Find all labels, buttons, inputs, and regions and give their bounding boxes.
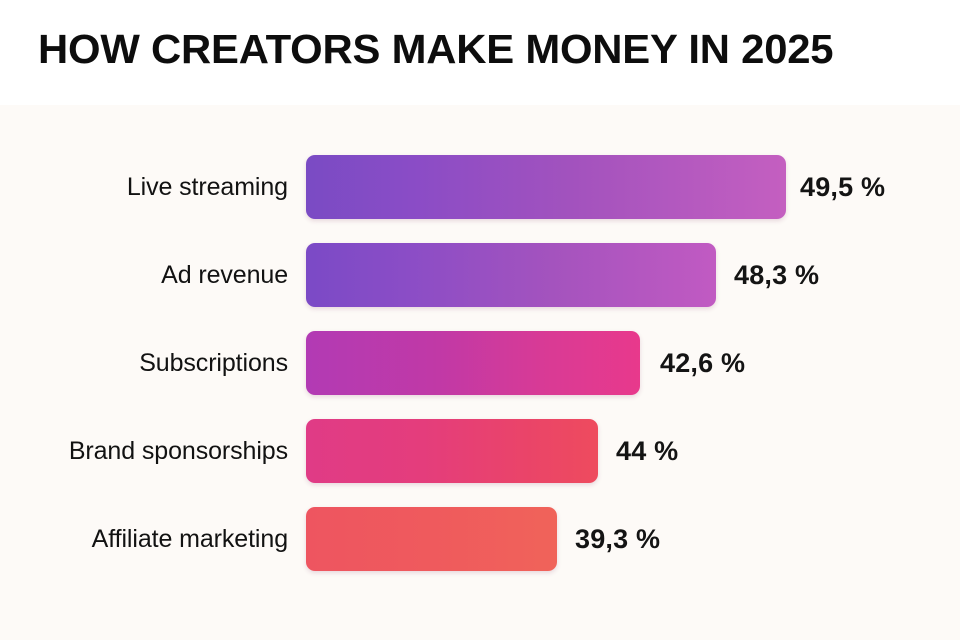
bar-category-label: Affiliate marketing (0, 525, 288, 554)
bar-track (306, 507, 557, 571)
bar-track (306, 155, 786, 219)
chart-area: Live streaming 49,5 % Ad revenue 48,3 % … (0, 105, 960, 640)
bar-subscriptions[interactable] (306, 331, 640, 395)
bar-value-label: 44 % (616, 419, 678, 483)
bar-value-label: 49,5 % (800, 155, 885, 219)
bar-category-label: Subscriptions (0, 349, 288, 378)
bar-row: Ad revenue 48,3 % (0, 243, 960, 307)
bar-track (306, 331, 640, 395)
bar-row: Affiliate marketing 39,3 % (0, 507, 960, 571)
bar-value-label: 42,6 % (660, 331, 745, 395)
bar-chart: Live streaming 49,5 % Ad revenue 48,3 % … (0, 105, 960, 640)
infographic-canvas: HOW CREATORS MAKE MONEY IN 2025 Live str… (0, 0, 960, 640)
bar-category-label: Brand sponsorships (0, 437, 288, 466)
bar-value-label: 48,3 % (734, 243, 819, 307)
bar-row: Subscriptions 42,6 % (0, 331, 960, 395)
bar-track (306, 419, 598, 483)
bar-row: Live streaming 49,5 % (0, 155, 960, 219)
page-title: HOW CREATORS MAKE MONEY IN 2025 (38, 28, 833, 71)
bar-brand-sponsorships[interactable] (306, 419, 598, 483)
bar-category-label: Live streaming (0, 173, 288, 202)
bar-ad-revenue[interactable] (306, 243, 716, 307)
bar-live-streaming[interactable] (306, 155, 786, 219)
header-band: HOW CREATORS MAKE MONEY IN 2025 (0, 0, 960, 105)
bar-track (306, 243, 716, 307)
bar-value-label: 39,3 % (575, 507, 660, 571)
bar-row: Brand sponsorships 44 % (0, 419, 960, 483)
bar-category-label: Ad revenue (0, 261, 288, 290)
bar-affiliate-marketing[interactable] (306, 507, 557, 571)
